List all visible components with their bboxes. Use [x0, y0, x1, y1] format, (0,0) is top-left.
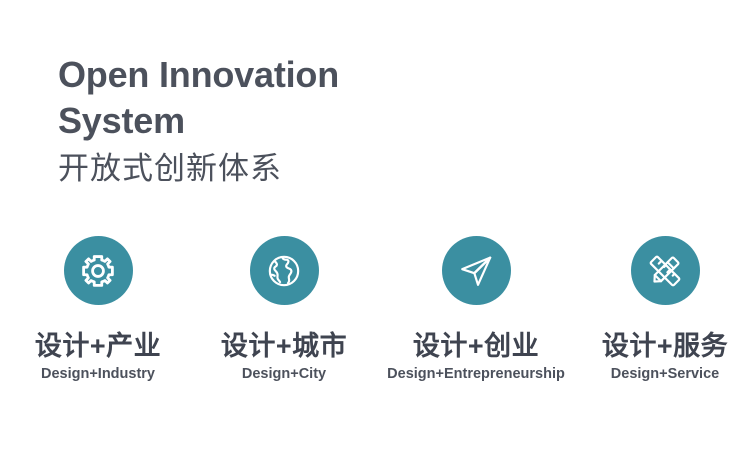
pillar-label-english: Design+Entrepreneurship	[387, 366, 565, 383]
page-title-chinese: 开放式创新体系	[58, 150, 478, 189]
page-title-english: Open Innovation System	[58, 52, 478, 144]
pillar-design-entrepreneurship[interactable]: 设计+创业 Design+Entrepreneurship	[372, 236, 580, 382]
icon-badge-industry	[64, 236, 133, 305]
pillar-label-english: Design+Service	[611, 366, 719, 383]
pillars-row: 设计+产业 Design+Industry 设计+城市 Design+City	[0, 236, 750, 382]
pillar-design-service[interactable]: 设计+服务 Design+Service	[580, 236, 750, 382]
pillar-label-english: Design+City	[242, 366, 326, 383]
pillar-label-english: Design+Industry	[41, 366, 155, 383]
gear-icon	[77, 250, 119, 292]
icon-badge-city	[250, 236, 319, 305]
icon-badge-service	[631, 236, 700, 305]
icon-badge-entrepreneurship	[442, 236, 511, 305]
pillar-label-chinese: 设计+创业	[413, 332, 539, 362]
title-block: Open Innovation System 开放式创新体系	[58, 52, 478, 189]
pillar-label-chinese: 设计+服务	[602, 332, 728, 362]
paper-plane-icon	[456, 251, 496, 291]
pillar-label-chinese: 设计+产业	[35, 332, 161, 362]
slide-canvas: Open Innovation System 开放式创新体系 设计+产业 Des…	[0, 0, 750, 469]
pillar-design-city[interactable]: 设计+城市 Design+City	[196, 236, 372, 382]
pencil-ruler-icon	[644, 250, 686, 292]
globe-icon	[264, 251, 304, 291]
pillar-design-industry[interactable]: 设计+产业 Design+Industry	[0, 236, 196, 382]
pillar-label-chinese: 设计+城市	[221, 332, 347, 362]
